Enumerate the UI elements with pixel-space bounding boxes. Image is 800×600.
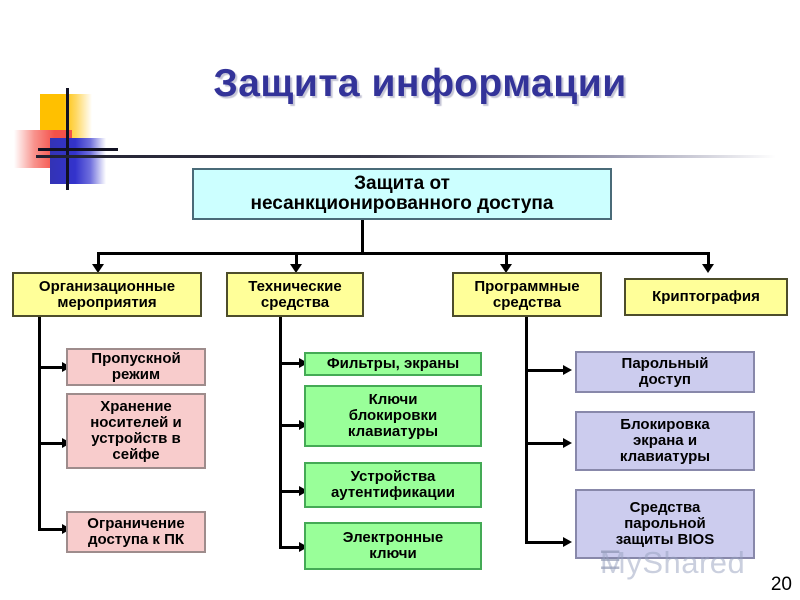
technical-item-4[interactable]: Электронные ключи: [304, 522, 482, 570]
logo-horizontal-line: [38, 148, 118, 151]
category-technical-line2: средства: [261, 295, 329, 311]
organizational-branch-3: [38, 528, 64, 531]
organizational-item-1-line1: Пропускной: [91, 351, 180, 367]
category-cryptography-line1: Криптография: [652, 289, 760, 305]
category-organizational[interactable]: Организационные мероприятия: [12, 272, 202, 317]
category-software-line1: Программные: [474, 279, 579, 295]
technical-item-2-line1: Ключи: [369, 392, 418, 408]
organizational-item-3-line2: доступа к ПК: [88, 532, 184, 548]
software-branch-3: [525, 541, 565, 544]
organizational-branch-2: [38, 442, 64, 445]
category-software[interactable]: Программные средства: [452, 272, 602, 317]
organizational-item-2[interactable]: Хранение носителей и устройств в сейфе: [66, 393, 206, 469]
software-branch-1: [525, 369, 565, 372]
page-number: 20: [771, 574, 792, 596]
technical-branch-2: [279, 424, 301, 427]
software-item-2-line3: клавиатуры: [620, 449, 710, 465]
technical-item-2-line3: клавиатуры: [348, 424, 438, 440]
technical-item-3-line2: аутентификации: [331, 485, 455, 501]
technical-item-3[interactable]: Устройства аутентификации: [304, 462, 482, 508]
organizational-branch-1: [38, 366, 64, 369]
category-technical[interactable]: Технические средства: [226, 272, 364, 317]
organizational-trunk-line: [38, 317, 41, 531]
technical-branch-1: [279, 362, 301, 365]
arrow-right-software-1: [563, 365, 572, 375]
category-cryptography[interactable]: Криптография: [624, 278, 788, 316]
category-software-line2: средства: [493, 295, 561, 311]
category-technical-line1: Технические: [248, 279, 341, 295]
software-item-2[interactable]: Блокировка экрана и клавиатуры: [575, 411, 755, 471]
organizational-item-1[interactable]: Пропускной режим: [66, 348, 206, 386]
technical-item-1[interactable]: Фильтры, экраны: [304, 352, 482, 376]
software-branch-2: [525, 442, 565, 445]
organizational-item-2-line2: носителей и: [90, 415, 182, 431]
category-organizational-line1: Организационные: [39, 279, 175, 295]
organizational-item-3[interactable]: Ограничение доступа к ПК: [66, 511, 206, 553]
category-bus-line: [97, 252, 710, 255]
category-organizational-line2: мероприятия: [57, 295, 156, 311]
root-node-line2: несанкционированного доступа: [251, 194, 554, 214]
organizational-item-2-line1: Хранение: [100, 399, 172, 415]
organizational-item-2-line4: сейфе: [112, 447, 159, 463]
page-title: Защита информации: [120, 62, 720, 106]
logo-blue-square: [50, 138, 106, 184]
technical-item-4-line2: ключи: [369, 546, 416, 562]
software-item-2-line2: экрана и: [633, 433, 697, 449]
technical-branch-3: [279, 490, 301, 493]
organizational-item-2-line3: устройств в: [91, 431, 181, 447]
title-divider: [36, 155, 776, 158]
technical-branch-4: [279, 546, 301, 549]
root-node-protection-from-unauthorized-access[interactable]: Защита от несанкционированного доступа: [192, 168, 612, 220]
technical-item-2[interactable]: Ключи блокировки клавиатуры: [304, 385, 482, 447]
technical-item-4-line1: Электронные: [343, 530, 443, 546]
software-item-3-line2: парольной: [624, 516, 706, 532]
software-item-3-line1: Средства: [630, 500, 701, 516]
decorative-logo: [14, 88, 118, 192]
software-trunk-line: [525, 317, 528, 544]
root-stem-line: [361, 220, 364, 254]
technical-item-1-line1: Фильтры, экраны: [327, 356, 459, 372]
software-item-1[interactable]: Парольный доступ: [575, 351, 755, 393]
organizational-item-1-line2: режим: [112, 367, 160, 383]
technical-item-2-line2: блокировки: [349, 408, 437, 424]
technical-item-3-line1: Устройства: [351, 469, 436, 485]
software-item-2-line1: Блокировка: [620, 417, 709, 433]
root-node-line1: Защита от: [354, 174, 450, 194]
slide-canvas: Защита информации Защита от несанкционир…: [0, 0, 800, 600]
organizational-item-3-line1: Ограничение: [87, 516, 184, 532]
technical-trunk-line: [279, 317, 282, 549]
arrow-right-software-2: [563, 438, 572, 448]
software-item-1-line1: Парольный: [622, 356, 709, 372]
arrow-right-software-3: [563, 537, 572, 547]
software-item-1-line2: доступ: [639, 372, 691, 388]
arrow-down-cryptography: [702, 264, 714, 273]
logo-vertical-line: [66, 88, 69, 190]
myshared-watermark: MyShared: [600, 545, 745, 581]
